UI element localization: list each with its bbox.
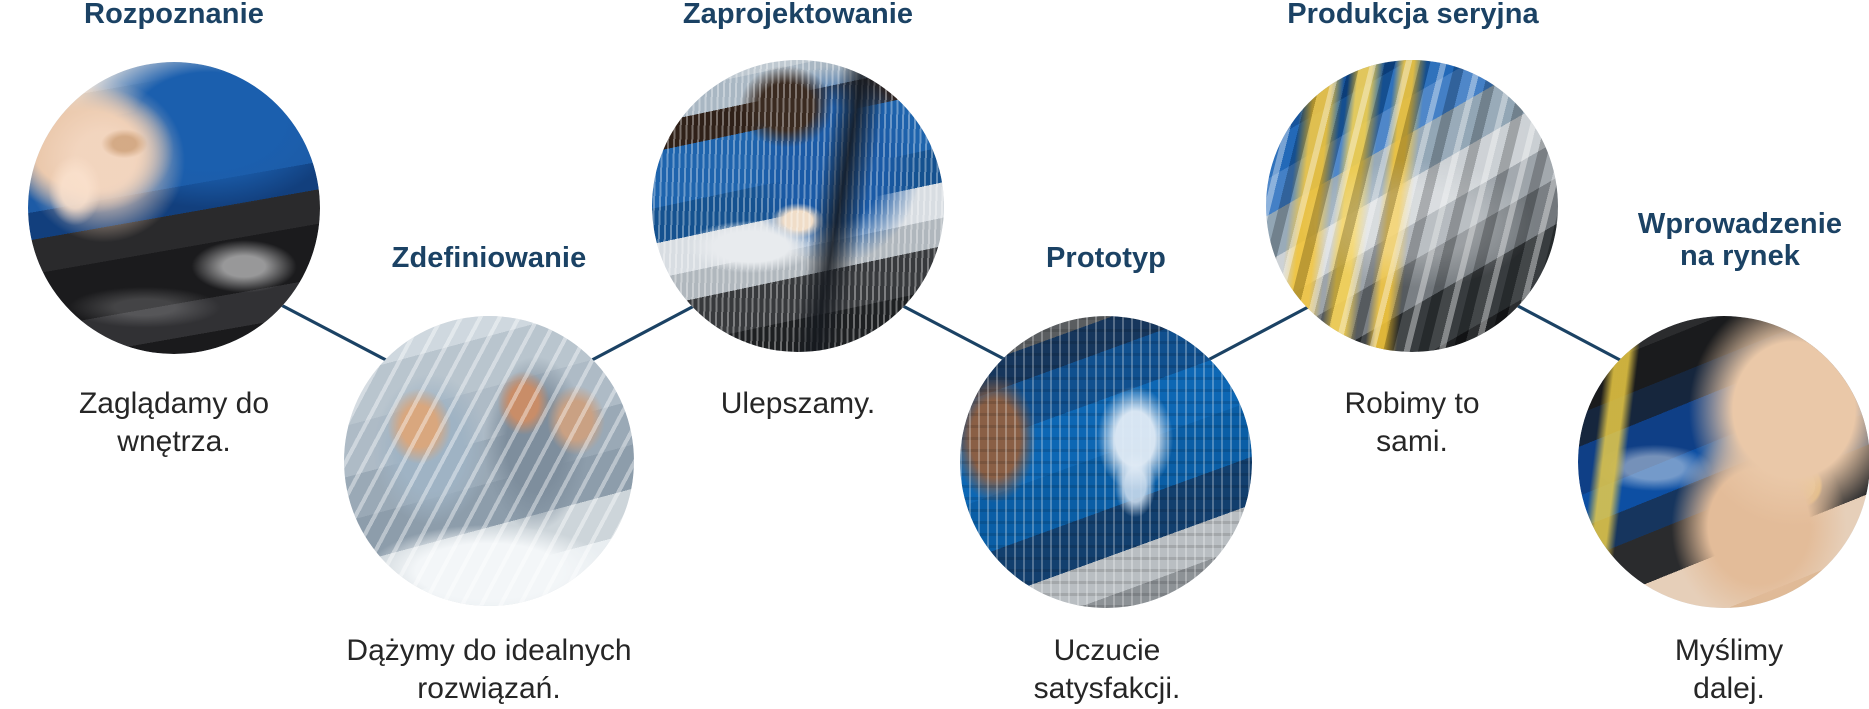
photo-cad-model-on-monitor bbox=[960, 316, 1252, 608]
step-title-zdefiniowanie: Zdefiniowanie bbox=[339, 242, 639, 274]
step-image-zaprojektowanie[interactable] bbox=[652, 60, 944, 352]
photo-mechanic-with-laptop bbox=[652, 60, 944, 352]
photo-mechanic-inspecting-car-hood bbox=[28, 62, 320, 354]
step-image-produkcja-seryjna[interactable] bbox=[1266, 60, 1558, 352]
photo-production-line-shafts bbox=[1266, 60, 1558, 352]
photo-team-discussing-blueprints bbox=[344, 316, 634, 606]
process-diagram: Rozpoznanie Zaglądamy do wnętrza. Zdefin… bbox=[0, 0, 1869, 705]
step-title-rozpoznanie: Rozpoznanie bbox=[28, 0, 320, 30]
step-title-produkcja-seryjna: Produkcja seryjna bbox=[1258, 0, 1568, 30]
photo-hand-applying-hd-sticker bbox=[1578, 316, 1869, 608]
step-title-wprowadzenie-na-rynek: Wprowadzenie na rynek bbox=[1610, 208, 1869, 273]
step-image-wprowadzenie-na-rynek[interactable] bbox=[1578, 316, 1869, 608]
step-caption-prototyp: Uczucie satysfakcji. bbox=[952, 632, 1262, 709]
step-image-zdefiniowanie[interactable] bbox=[344, 316, 634, 606]
step-title-prototyp: Prototyp bbox=[960, 242, 1252, 274]
step-image-prototyp[interactable] bbox=[960, 316, 1252, 608]
step-caption-wprowadzenie-na-rynek: Myślimy dalej. bbox=[1594, 632, 1864, 709]
step-image-rozpoznanie[interactable] bbox=[28, 62, 320, 354]
step-title-zaprojektowanie: Zaprojektowanie bbox=[643, 0, 953, 30]
step-caption-zdefiniowanie: Dążymy do idealnych rozwiązań. bbox=[309, 632, 669, 709]
step-caption-zaprojektowanie: Ulepszamy. bbox=[648, 385, 948, 423]
step-caption-rozpoznanie: Zaglądamy do wnętrza. bbox=[8, 385, 340, 462]
step-caption-produkcja-seryjna: Robimy to sami. bbox=[1262, 385, 1562, 462]
